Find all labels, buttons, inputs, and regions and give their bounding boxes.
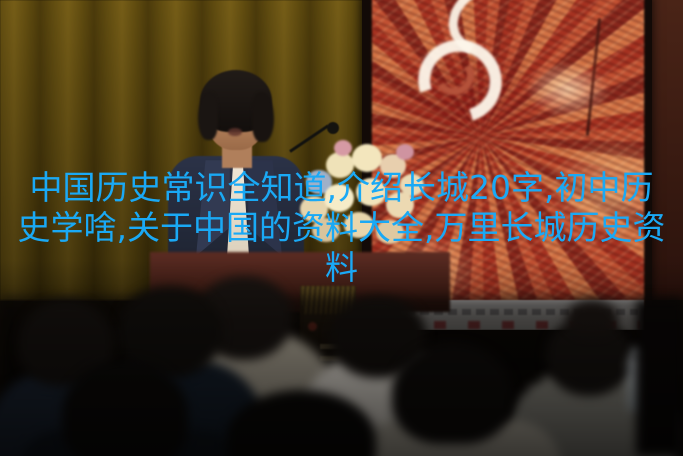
speaker-hair-left xyxy=(198,92,218,140)
speaker-hair-right xyxy=(252,92,274,142)
microphone-head-icon xyxy=(327,122,339,134)
photo-canvas: 中国历史常识全知道,介绍长城20字,初中历史学啥,关于中国的资料大全,万里长城历… xyxy=(0,0,683,456)
speaker-mouth xyxy=(228,128,242,136)
caption-overlay: 中国历史常识全知道,介绍长城20字,初中历史学啥,关于中国的资料大全,万里长城历… xyxy=(0,168,683,288)
foreground-vignette xyxy=(0,260,683,456)
